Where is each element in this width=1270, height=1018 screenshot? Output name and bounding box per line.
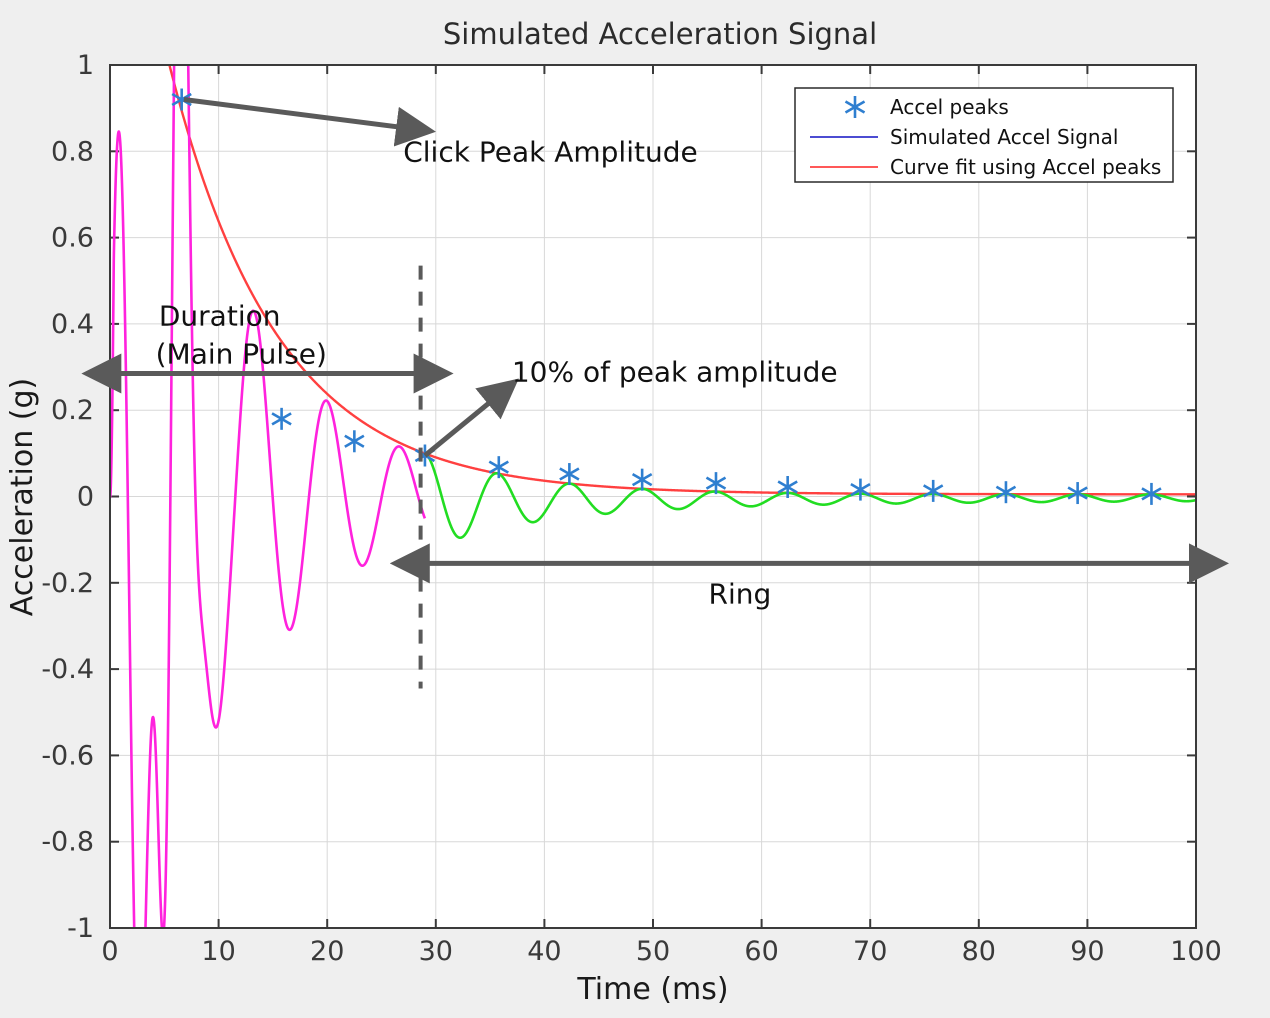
x-tick-label-50: 50 <box>636 936 670 967</box>
x-tick-label-70: 70 <box>853 936 887 967</box>
x-tick-label-30: 30 <box>419 936 453 967</box>
y-tick-label-neg1: -1 <box>67 913 94 944</box>
x-tick-label-20: 20 <box>310 936 344 967</box>
y-tick-label-0.2: 0.2 <box>51 395 94 426</box>
ten-percent-of-peak-label: 10% of peak amplitude <box>512 355 838 388</box>
y-tick-label-neg0.4: -0.4 <box>41 654 94 685</box>
legend-label-simulated-signal: Simulated Accel Signal <box>890 125 1118 149</box>
x-axis-label: Time (ms) <box>576 972 728 1007</box>
y-tick-label-0.8: 0.8 <box>51 136 94 167</box>
x-tick-label-40: 40 <box>527 936 561 967</box>
x-tick-label-100: 100 <box>1170 936 1222 967</box>
y-tick-label-0.4: 0.4 <box>51 309 94 340</box>
x-tick-label-0: 0 <box>101 936 118 967</box>
duration-main-pulse-label-line2: (Main Pulse) <box>156 337 327 370</box>
ring-span-label: Ring <box>708 578 771 611</box>
y-tick-label-0.6: 0.6 <box>51 223 94 254</box>
legend-label-accel-peaks: Accel peaks <box>890 95 1009 119</box>
x-tick-label-10: 10 <box>201 936 235 967</box>
x-tick-label-60: 60 <box>744 936 778 967</box>
y-axis-label: Acceleration (g) <box>5 378 40 616</box>
y-tick-label-1: 1 <box>77 50 94 81</box>
legend[interactable]: Accel peaks Simulated Accel Signal Curve… <box>795 88 1173 182</box>
y-tick-label-neg0.2: -0.2 <box>41 568 94 599</box>
chart-title: Simulated Acceleration Signal <box>443 17 877 51</box>
click-peak-amplitude-label: Click Peak Amplitude <box>403 135 697 168</box>
x-tick-label-90: 90 <box>1070 936 1104 967</box>
y-tick-label-neg0.6: -0.6 <box>41 740 94 771</box>
y-tick-label-neg0.8: -0.8 <box>41 827 94 858</box>
duration-main-pulse-label-line1: Duration <box>159 299 281 332</box>
acceleration-signal-chart: Simulated Acceleration Signal 0102030405… <box>0 0 1270 1018</box>
chart-figure: Simulated Acceleration Signal 0102030405… <box>0 0 1270 1018</box>
legend-label-curve-fit: Curve fit using Accel peaks <box>890 155 1161 179</box>
y-tick-label-0: 0 <box>77 482 94 513</box>
x-tick-label-80: 80 <box>962 936 996 967</box>
